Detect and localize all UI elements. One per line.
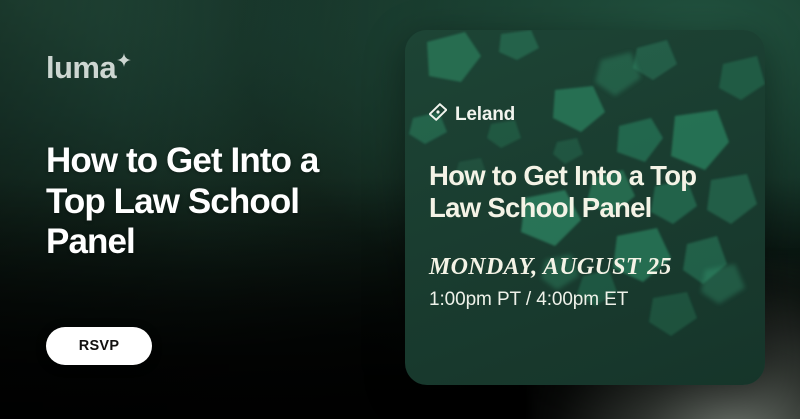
event-date: MONDAY, AUGUST 25 <box>429 254 672 281</box>
rsvp-button[interactable]: RSVP <box>46 327 152 365</box>
leland-diamond-icon <box>429 103 447 126</box>
event-card-content: Leland How to Get Into a Top Law School … <box>405 30 765 385</box>
sparkle-icon <box>117 53 131 72</box>
page-title: How to Get Into a Top Law School Panel <box>46 141 346 263</box>
event-promo-image: luma How to Get Into a Top Law School Pa… <box>0 0 800 419</box>
luma-brand-logo: luma <box>46 52 131 83</box>
left-content-column: luma How to Get Into a Top Law School Pa… <box>46 0 376 419</box>
leland-logo-text: Leland <box>455 104 515 126</box>
event-time: 1:00pm PT / 4:00pm ET <box>429 289 628 311</box>
event-card[interactable]: Leland How to Get Into a Top Law School … <box>405 30 765 385</box>
luma-wordmark: luma <box>46 52 116 83</box>
leland-logo: Leland <box>429 103 515 126</box>
event-card-title: How to Get Into a Top Law School Panel <box>429 160 754 225</box>
